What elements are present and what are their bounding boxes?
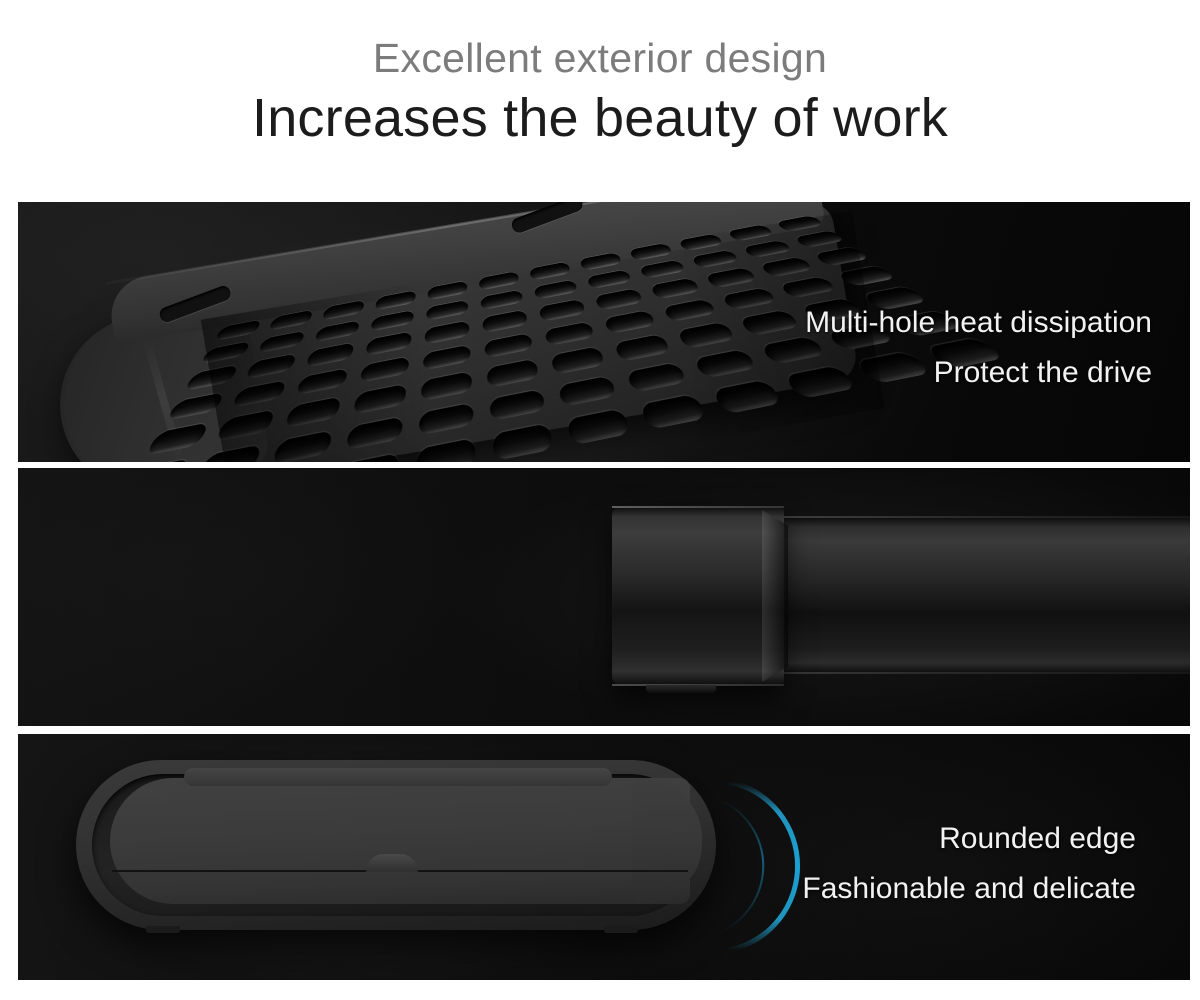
ventilation-hole (418, 402, 474, 436)
ventilation-hole (480, 289, 523, 310)
pill-top-rail (184, 768, 612, 786)
panel-1-caption: Multi-hole heat dissipation Protect the … (805, 298, 1152, 398)
page-title: Increases the beauty of work (0, 90, 1200, 147)
ventilation-hole (416, 438, 476, 462)
ventilation-hole (215, 410, 276, 442)
page-header: Excellent exterior design Increases the … (0, 0, 1200, 200)
ventilation-hole (257, 330, 306, 353)
ventilation-hole (712, 380, 784, 415)
product-feature-page: Excellent exterior design Increases the … (0, 0, 1200, 1000)
ventilation-hole (594, 288, 644, 310)
ventilation-hole (693, 349, 759, 379)
ventilation-hole (558, 375, 618, 407)
ventilation-hole (295, 368, 348, 396)
ventilation-hole (489, 389, 546, 422)
ventilation-hole (739, 310, 802, 336)
pill-foot-left (146, 926, 180, 933)
ventilation-hole (245, 353, 298, 379)
pill-inner-panel (110, 778, 690, 904)
ventilation-hole (566, 409, 631, 446)
caption-line-primary: Multi-hole heat dissipation (805, 298, 1152, 348)
ventilation-hole (365, 331, 412, 355)
header-subtitle: Excellent exterior design (0, 38, 1200, 79)
ventilation-hole (586, 269, 633, 289)
ventilation-hole (538, 299, 586, 322)
ventilation-hole (544, 321, 595, 346)
silicone-cylinder-product-image (612, 506, 1190, 686)
ventilation-hole (196, 444, 263, 462)
pill-foot-right (604, 926, 638, 933)
rounded-edge-panel: Rounded edge Fashionable and delicate (18, 734, 1190, 980)
ventilation-hole (314, 320, 361, 343)
ventilation-hole (484, 333, 533, 359)
ventilation-hole (676, 322, 736, 349)
ventilation-hole (550, 346, 605, 374)
cylinder-end-cap (612, 506, 784, 686)
ventilation-hole (813, 246, 870, 266)
ventilation-hole (650, 278, 702, 300)
ventilation-hole (690, 249, 740, 268)
ventilation-hole (336, 453, 400, 462)
heat-dissipation-panel: Multi-hole heat dissipation Protect the … (18, 202, 1190, 462)
ventilation-hole (614, 334, 672, 362)
ventilation-hole (662, 298, 718, 322)
cylinder-bottom-tab (646, 685, 716, 693)
caption-line-secondary: Protect the drive (805, 348, 1152, 398)
ventilation-hole (345, 416, 404, 451)
ventilation-hole (759, 257, 814, 278)
ventilation-hole (353, 384, 407, 415)
ventilation-hole (370, 310, 414, 332)
ventilation-hole (305, 342, 355, 367)
ventilation-hole (778, 276, 838, 299)
cylinder-cap-top-highlight (612, 506, 784, 508)
pill-center-bump (366, 854, 418, 872)
rounded-edge-product-image (76, 760, 716, 930)
silicone-material-panel: Silicone material Better texture (18, 468, 1190, 726)
ventilation-hole (793, 230, 846, 248)
panel-3-caption: Rounded edge Fashionable and delicate (802, 814, 1136, 914)
ventilation-hole (639, 394, 708, 430)
ventilation-hole (533, 279, 578, 300)
ventilation-hole (721, 287, 779, 310)
ventilation-hole (486, 359, 539, 388)
ventilation-hole (271, 430, 334, 462)
ventilation-hole (603, 310, 657, 335)
ventilation-hole (426, 299, 468, 321)
caption-line-secondary: Fashionable and delicate (802, 864, 1136, 914)
ventilation-hole (424, 321, 469, 345)
ventilation-hole (625, 362, 688, 393)
ventilation-hole (421, 371, 473, 401)
ventilation-hole (638, 259, 686, 279)
ventilation-hole (705, 267, 759, 288)
ventilation-hole (482, 310, 528, 333)
ventilation-hole (284, 397, 342, 428)
caption-line-primary: Rounded edge (802, 814, 1136, 864)
cylinder-cap-bevel (762, 510, 788, 682)
ventilation-hole (742, 240, 794, 259)
ventilation-hole (423, 344, 471, 371)
ventilation-hole (359, 356, 409, 383)
ventilation-hole (231, 380, 288, 409)
